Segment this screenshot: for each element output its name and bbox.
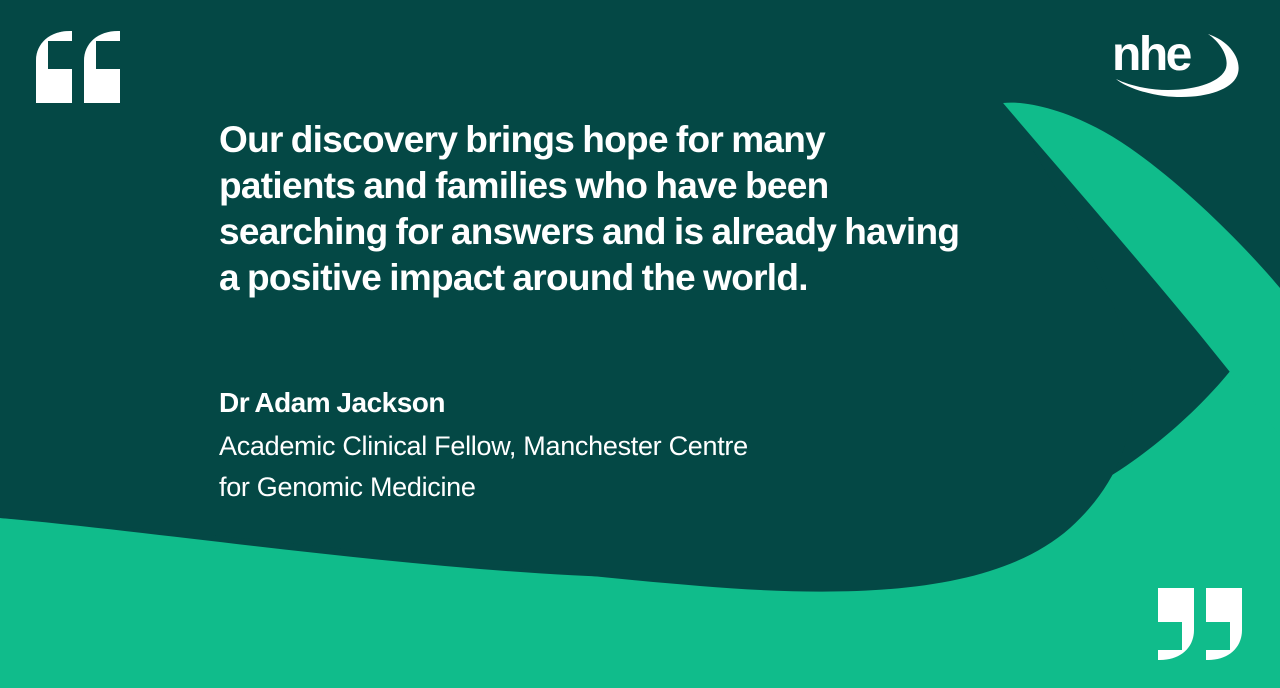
attribution-role-line-2: for Genomic Medicine [219, 467, 919, 508]
attribution: Dr Adam Jackson Academic Clinical Fellow… [219, 386, 919, 508]
closing-quote-mark [1158, 588, 1242, 660]
attribution-role-line-1: Academic Clinical Fellow, Manchester Cen… [219, 426, 919, 467]
nhe-logo[interactable]: nhe [1112, 24, 1244, 98]
attribution-role: Academic Clinical Fellow, Manchester Cen… [219, 426, 919, 508]
quote-text: Our discovery brings hope for many patie… [219, 117, 964, 301]
quote-card: nhe Our discovery brings hope for many p… [0, 0, 1280, 688]
nhe-wordmark-text: nhe [1112, 28, 1192, 81]
nhe-logo-graphic: nhe [1112, 24, 1244, 98]
quote-content: Our discovery brings hope for many patie… [219, 0, 979, 688]
attribution-name: Dr Adam Jackson [219, 386, 919, 420]
opening-quote-mark [36, 31, 120, 103]
